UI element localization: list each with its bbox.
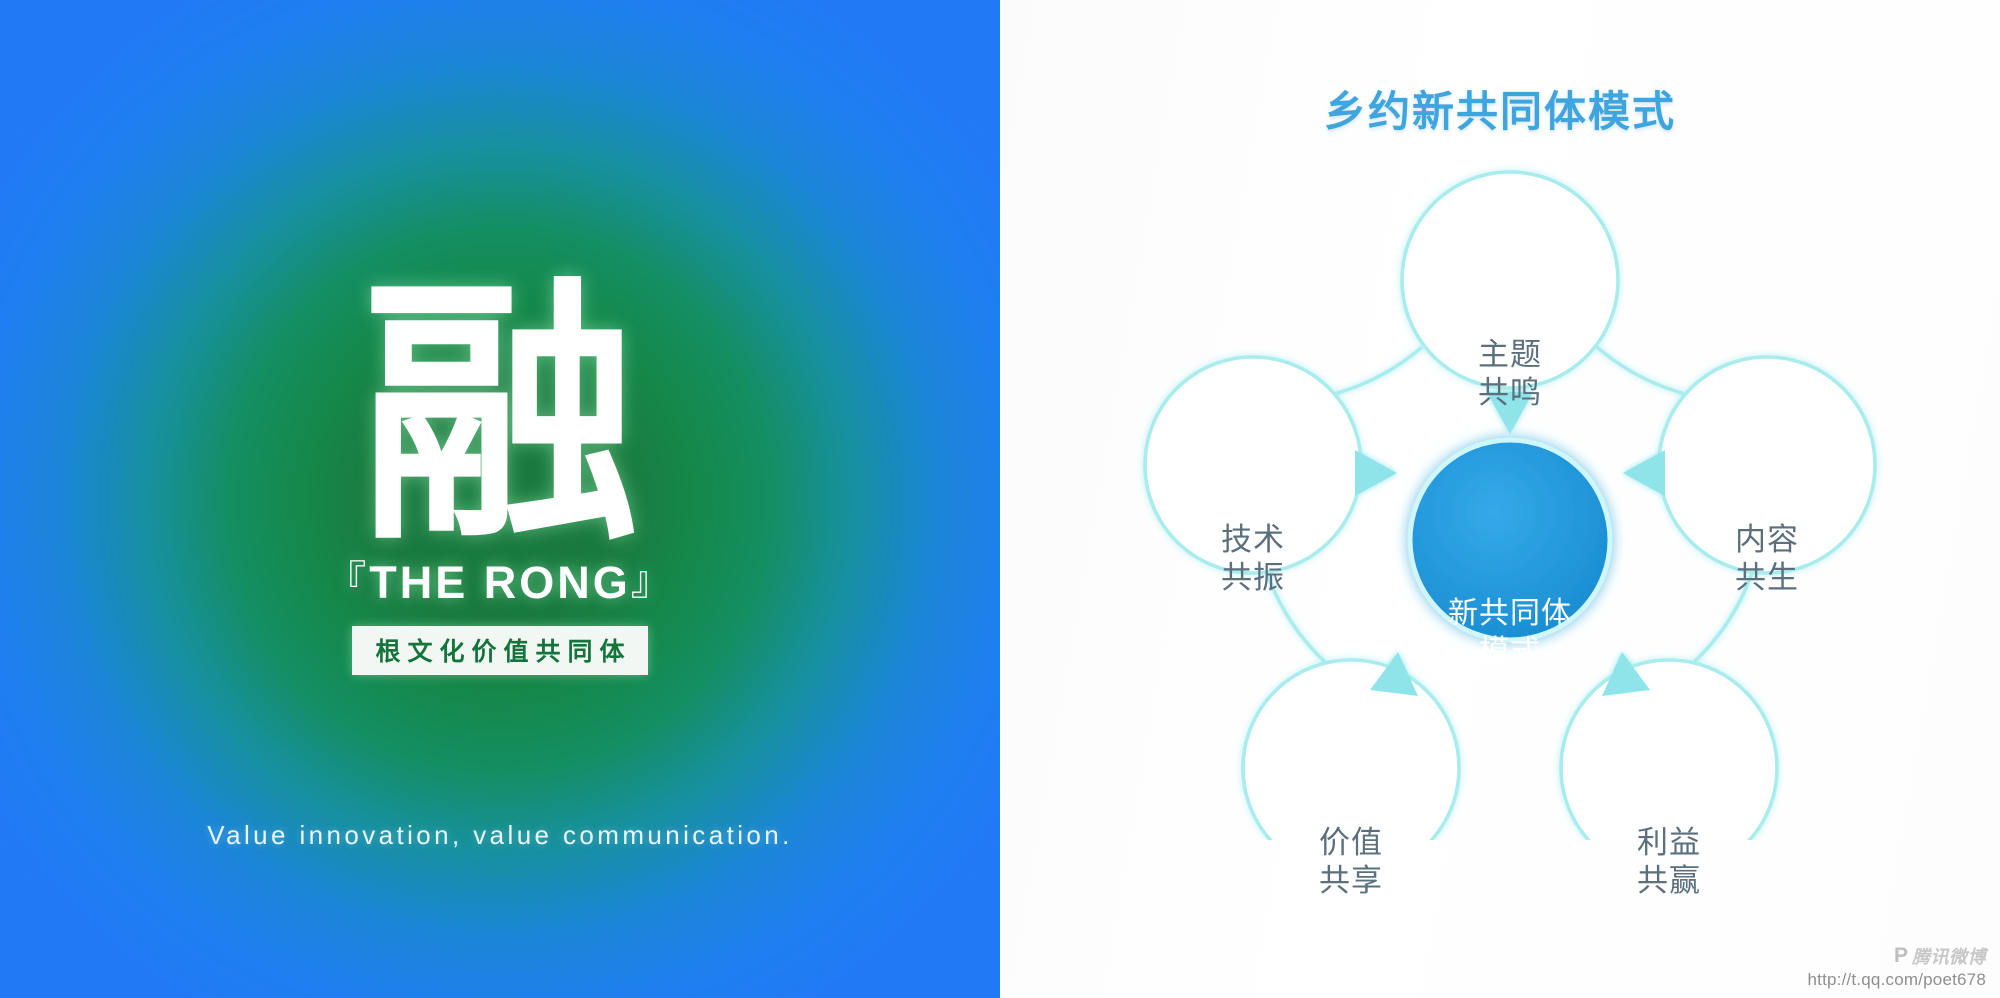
weibo-p-icon: P [1894, 944, 1907, 968]
brand-logo-glyph: 融 [0, 300, 1000, 534]
brand-english-text: THE RONG [369, 557, 631, 608]
watermark-url: http://t.qq.com/poet678 [1808, 970, 1987, 990]
watermark-brand: 腾讯微博 [1912, 943, 1986, 969]
brand-chinese-slogan: 根文化价值共同体 [352, 626, 647, 675]
brand-tagline: Value innovation, value communication. [0, 820, 1000, 851]
watermark: P 腾讯微博 http://t.qq.com/poet678 [1808, 943, 1987, 990]
page-title: 乡约新共同体模式 [1000, 78, 2000, 139]
brand-logo-block: 融 『THE RONG』 根文化价值共同体 [0, 300, 1000, 675]
left-brand-panel: 融 『THE RONG』 根文化价值共同体 Value innovation, … [0, 0, 1000, 998]
bracket-close-icon: 』 [631, 548, 674, 606]
left-panel-content: 融 『THE RONG』 根文化价值共同体 Value innovation, … [0, 0, 1000, 998]
bracket-open-icon: 『 [326, 548, 369, 606]
slide-canvas: 融 『THE RONG』 根文化价值共同体 Value innovation, … [0, 0, 2000, 998]
right-diagram-panel: 乡约新共同体模式 [1000, 0, 2000, 998]
brand-english-name: 『THE RONG』 [0, 552, 1000, 610]
tencent-weibo-logo: P 腾讯微博 [1808, 943, 1987, 969]
community-model-diagram: 主题 共鸣 内容 共生 利益 共赢 价值 共享 技术 共振 新共同体 模式 [1130, 140, 1890, 840]
